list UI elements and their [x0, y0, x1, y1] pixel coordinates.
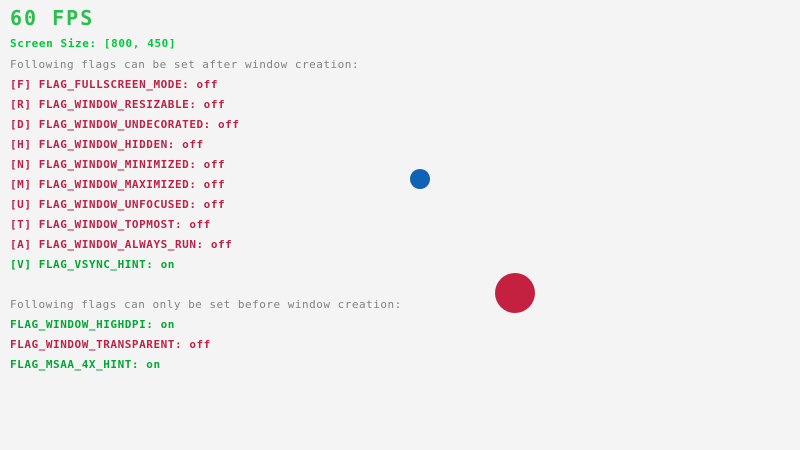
- flag-row-flag-window-topmost[interactable]: [T] FLAG_WINDOW_TOPMOST: off: [10, 219, 211, 230]
- flag-row-flag-window-transparent[interactable]: FLAG_WINDOW_TRANSPARENT: off: [10, 339, 211, 350]
- section-header-before-creation: Following flags can only be set before w…: [10, 299, 402, 310]
- flag-row-flag-window-maximized[interactable]: [M] FLAG_WINDOW_MAXIMIZED: off: [10, 179, 225, 190]
- flag-row-flag-vsync-hint[interactable]: [V] FLAG_VSYNC_HINT: on: [10, 259, 175, 270]
- raylib-window-canvas: 60 FPS Screen Size: [800, 450] Following…: [0, 0, 800, 450]
- flag-row-flag-msaa-4x-hint[interactable]: FLAG_MSAA_4X_HINT: on: [10, 359, 161, 370]
- ball-maroon-circle: [495, 273, 535, 313]
- flag-row-flag-window-resizable[interactable]: [R] FLAG_WINDOW_RESIZABLE: off: [10, 99, 225, 110]
- flag-row-flag-window-hidden[interactable]: [H] FLAG_WINDOW_HIDDEN: off: [10, 139, 204, 150]
- flag-row-flag-window-unfocused[interactable]: [U] FLAG_WINDOW_UNFOCUSED: off: [10, 199, 225, 210]
- screen-size-label: Screen Size: [800, 450]: [10, 38, 176, 49]
- flag-row-flag-window-always-run[interactable]: [A] FLAG_WINDOW_ALWAYS_RUN: off: [10, 239, 232, 250]
- ball-blue-circle: [410, 169, 430, 189]
- section-header-after-creation: Following flags can be set after window …: [10, 59, 359, 70]
- flag-row-flag-window-highdpi[interactable]: FLAG_WINDOW_HIGHDPI: on: [10, 319, 175, 330]
- fps-counter: 60 FPS: [10, 8, 94, 28]
- flag-row-flag-window-minimized[interactable]: [N] FLAG_WINDOW_MINIMIZED: off: [10, 159, 225, 170]
- flag-row-flag-window-undecorated[interactable]: [D] FLAG_WINDOW_UNDECORATED: off: [10, 119, 240, 130]
- flag-row-flag-fullscreen-mode[interactable]: [F] FLAG_FULLSCREEN_MODE: off: [10, 79, 218, 90]
